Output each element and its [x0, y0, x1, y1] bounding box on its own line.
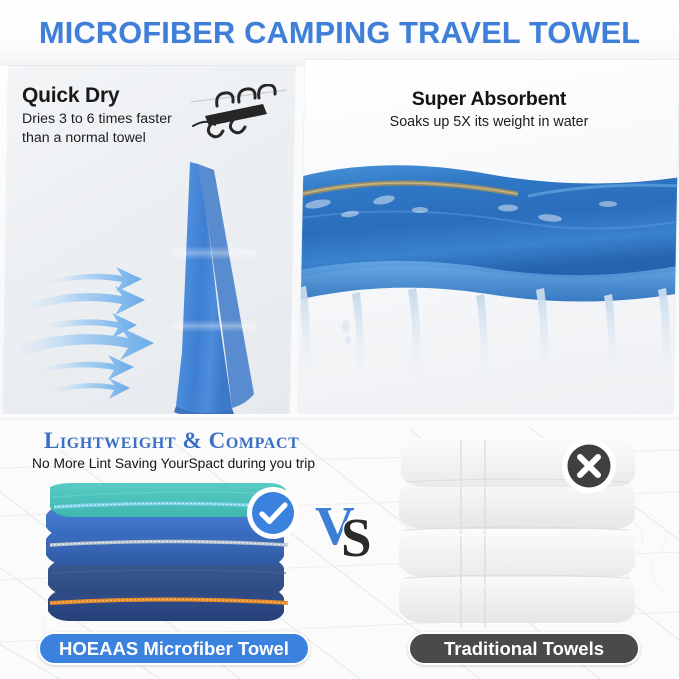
panel-quick-dry: Quick Dry Dries 3 to 6 times faster than…	[3, 66, 295, 418]
hoeaas-towel-label: HOEAAS Microfiber Towel	[38, 632, 310, 665]
white-towel-stack-icon	[395, 438, 665, 634]
quick-dry-heading: Quick Dry	[22, 84, 119, 108]
super-absorbent-subtitle: Soaks up 5X its weight in water	[302, 114, 676, 130]
panel-super-absorbent: Super Absorbent Soaks up 5X its weight i…	[299, 60, 679, 422]
airflow-arrows-icon	[20, 266, 220, 406]
comparison-heading: Lightweight & Compact	[44, 428, 299, 454]
versus-s: S	[341, 510, 372, 565]
quick-dry-subtitle: Dries 3 to 6 times faster than a normal …	[22, 110, 207, 148]
title-bar: MICROFIBER CAMPING TRAVEL TOWEL	[0, 0, 679, 66]
comparison-subtitle: No More Lint Saving YourSpact during you…	[32, 456, 315, 471]
x-circle-icon	[561, 438, 617, 494]
page-title: MICROFIBER CAMPING TRAVEL TOWEL	[39, 15, 640, 51]
product-infographic: MICROFIBER CAMPING TRAVEL TOWEL	[0, 0, 679, 679]
traditional-towels-label: Traditional Towels	[408, 632, 640, 665]
wet-towel-icon	[299, 160, 679, 390]
quick-dry-subtitle-line2: than a normal towel	[22, 130, 146, 146]
super-absorbent-heading: Super Absorbent	[302, 88, 676, 111]
quick-dry-subtitle-line1: Dries 3 to 6 times faster	[22, 111, 172, 127]
versus-label: V S	[315, 498, 385, 560]
check-circle-icon	[246, 486, 300, 540]
